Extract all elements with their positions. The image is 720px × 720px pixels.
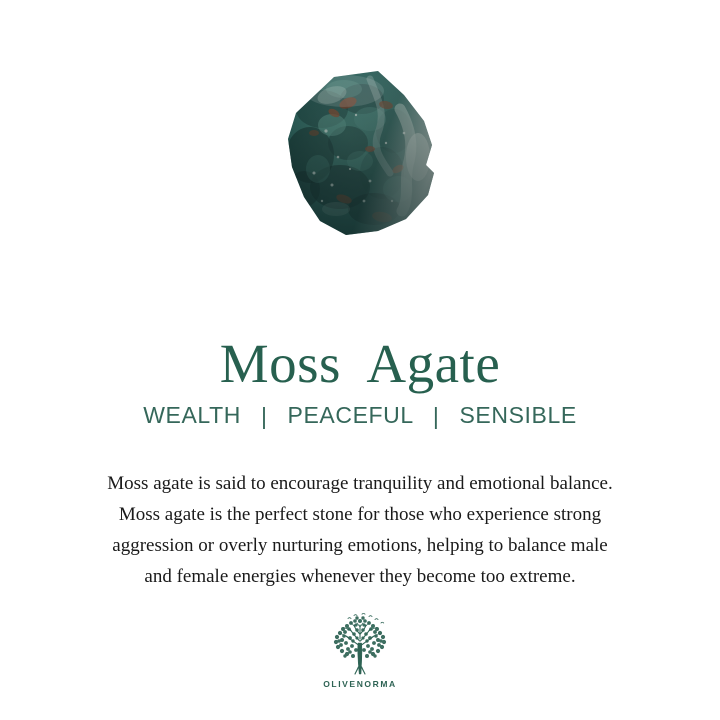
brand-logo: OLIVENORMA: [0, 612, 720, 689]
keyword-wealth: WEALTH: [143, 402, 241, 428]
olive-tree-icon: [324, 612, 396, 676]
description-text: Moss agate is said to encourage tranquil…: [36, 468, 684, 592]
promo-card: Moss Agate WEALTH | PEACEFUL | SENSIBLE …: [0, 0, 720, 720]
keyword-list: WEALTH | PEACEFUL | SENSIBLE: [0, 402, 720, 429]
keyword-sensible: SENSIBLE: [459, 402, 576, 428]
keyword-peaceful: PEACEFUL: [288, 402, 413, 428]
description-line: Moss agate is the perfect stone for thos…: [36, 499, 684, 530]
keyword-separator: |: [420, 403, 453, 430]
moss-agate-stone-image: [274, 69, 446, 241]
description-line: aggression or overly nurturing emotions,…: [36, 530, 684, 561]
brand-name: OLIVENORMA: [323, 679, 397, 689]
description-line: Moss agate is said to encourage tranquil…: [36, 468, 684, 499]
description-line: and female energies whenever they become…: [36, 561, 684, 592]
product-image-container: [0, 62, 720, 247]
page-title: Moss Agate: [0, 335, 720, 393]
keyword-separator: |: [248, 403, 281, 430]
